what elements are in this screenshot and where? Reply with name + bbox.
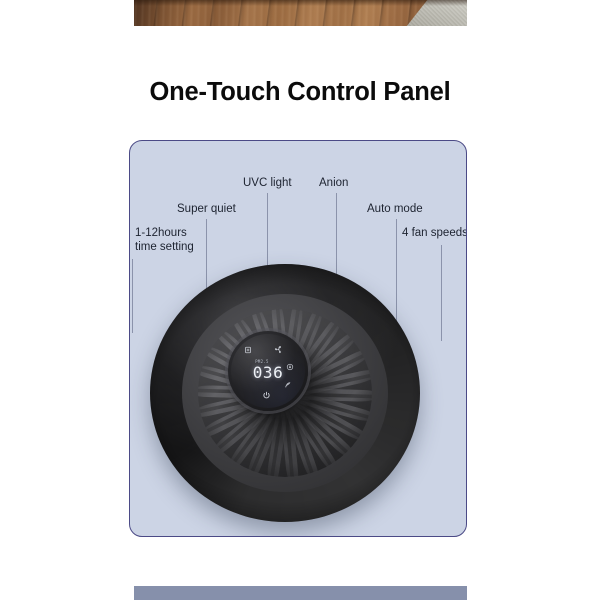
callout-super-quiet: Super quiet [177, 203, 236, 217]
control-panel-diagram: 1-12hours time setting Super quiet UVC l… [129, 140, 467, 537]
page-title: One-Touch Control Panel [0, 78, 600, 107]
callout-auto-mode: Auto mode [367, 203, 423, 217]
power-icon[interactable] [262, 391, 271, 400]
fan-speed-icon[interactable] [274, 345, 283, 354]
bottom-accent-bar [134, 586, 467, 600]
pm-display-value: 036 [228, 365, 308, 381]
leader-line-fan-speeds [441, 245, 442, 341]
wood-floor-photo [134, 0, 467, 26]
photo-top-shadow [134, 0, 467, 6]
callout-anion: Anion [319, 177, 348, 191]
callout-uvc-light: UVC light [243, 177, 292, 191]
callout-time-setting: 1-12hours time setting [135, 227, 194, 254]
touch-control-panel[interactable]: PM2.5 036 [228, 331, 308, 411]
callout-fan-speeds: 4 fan speeds [402, 227, 467, 241]
timer-icon[interactable] [244, 346, 252, 354]
leader-line-time-setting [132, 259, 133, 333]
anion-icon[interactable] [284, 381, 292, 389]
air-circulator-fan: PM2.5 036 [150, 264, 420, 522]
